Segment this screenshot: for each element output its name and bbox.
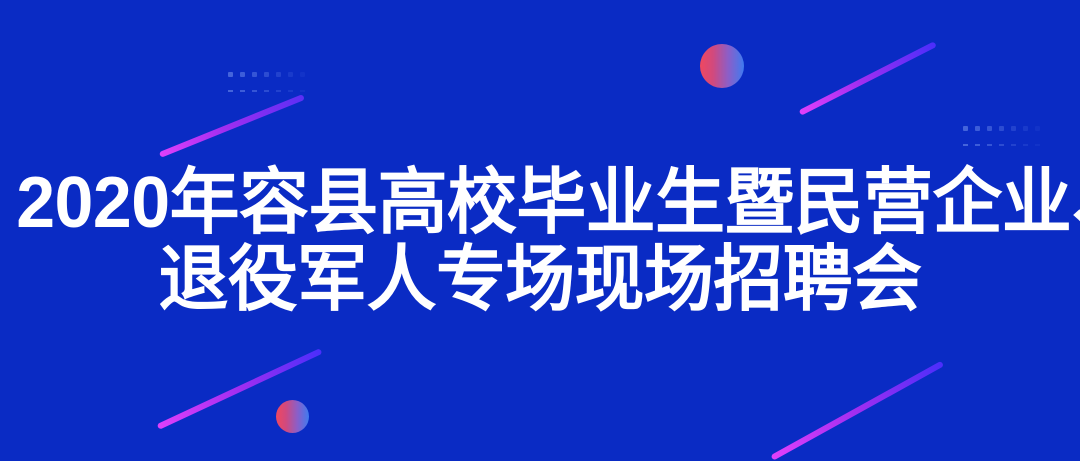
page-title: 2020年容县高校毕业生暨民营企业、 退役军人专场现场招聘会 <box>0 168 1080 317</box>
title-line-1: 2020年容县高校毕业生暨民营企业、 <box>16 168 1064 239</box>
title-line-2: 退役军人专场现场招聘会 <box>16 245 1064 316</box>
right-dot-grid-icon <box>963 126 1047 142</box>
top-gradient-circle-icon <box>700 44 744 88</box>
bottom-gradient-circle-icon <box>276 400 309 433</box>
event-poster-banner: 2020年容县高校毕业生暨民营企业、 退役军人专场现场招聘会 <box>0 0 1080 461</box>
right-dot-grid-row2-icon <box>963 144 1047 160</box>
left-dot-grid-row2-icon <box>228 90 312 106</box>
left-dot-grid-icon <box>228 72 312 88</box>
